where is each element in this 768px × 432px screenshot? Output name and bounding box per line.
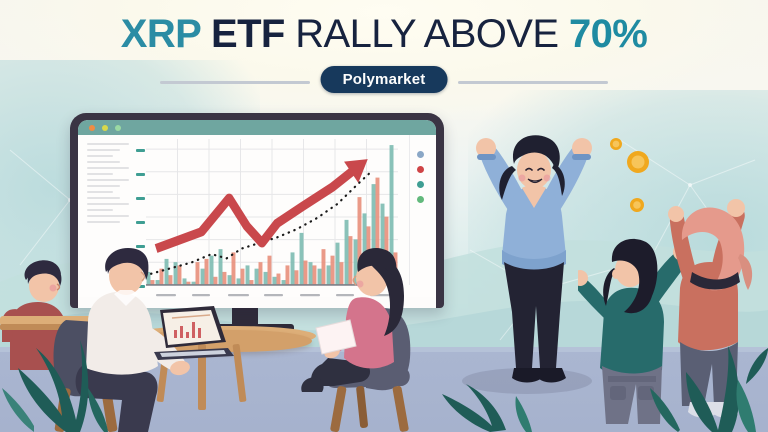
maximize-dot-icon[interactable] [115, 125, 121, 131]
minimize-dot-icon[interactable] [102, 125, 108, 131]
y-axis-tick [136, 173, 145, 176]
legend-dot-3[interactable] [417, 196, 424, 203]
seated-woman-reading [300, 236, 442, 432]
y-axis-tick [136, 221, 145, 224]
laptop[interactable] [140, 304, 234, 360]
legend-dot-0[interactable] [417, 151, 424, 158]
legend-dot-1[interactable] [417, 166, 424, 173]
title-middle: RALLY ABOVE [295, 12, 558, 56]
y-axis-tick [136, 149, 145, 152]
coin-small-bottom-icon [628, 196, 646, 214]
close-dot-icon[interactable] [89, 125, 95, 131]
plant-bottom-center [430, 372, 560, 432]
window-title-bar [78, 120, 436, 135]
poster-canvas: XRP ETF RALLY ABOVE 70% Polymarket [0, 0, 768, 432]
chart-sidebar-placeholder [87, 143, 129, 227]
divider-left [160, 81, 310, 84]
badge-row: Polymarket [0, 66, 768, 98]
page-title: XRP ETF RALLY ABOVE 70% [0, 14, 768, 54]
source-badge: Polymarket [321, 66, 448, 93]
legend-dot-2[interactable] [417, 181, 424, 188]
plant-bottom-left [0, 310, 140, 432]
coin-large-icon [624, 148, 652, 176]
divider-right [458, 81, 608, 84]
title-percent: 70% [569, 12, 647, 56]
plant-bottom-right [620, 300, 768, 432]
title-etf: ETF [211, 12, 285, 56]
y-axis-tick [136, 197, 145, 200]
chart-legend [417, 151, 424, 211]
coin-small-top-icon [608, 136, 624, 152]
title-xrp: XRP [121, 12, 201, 56]
